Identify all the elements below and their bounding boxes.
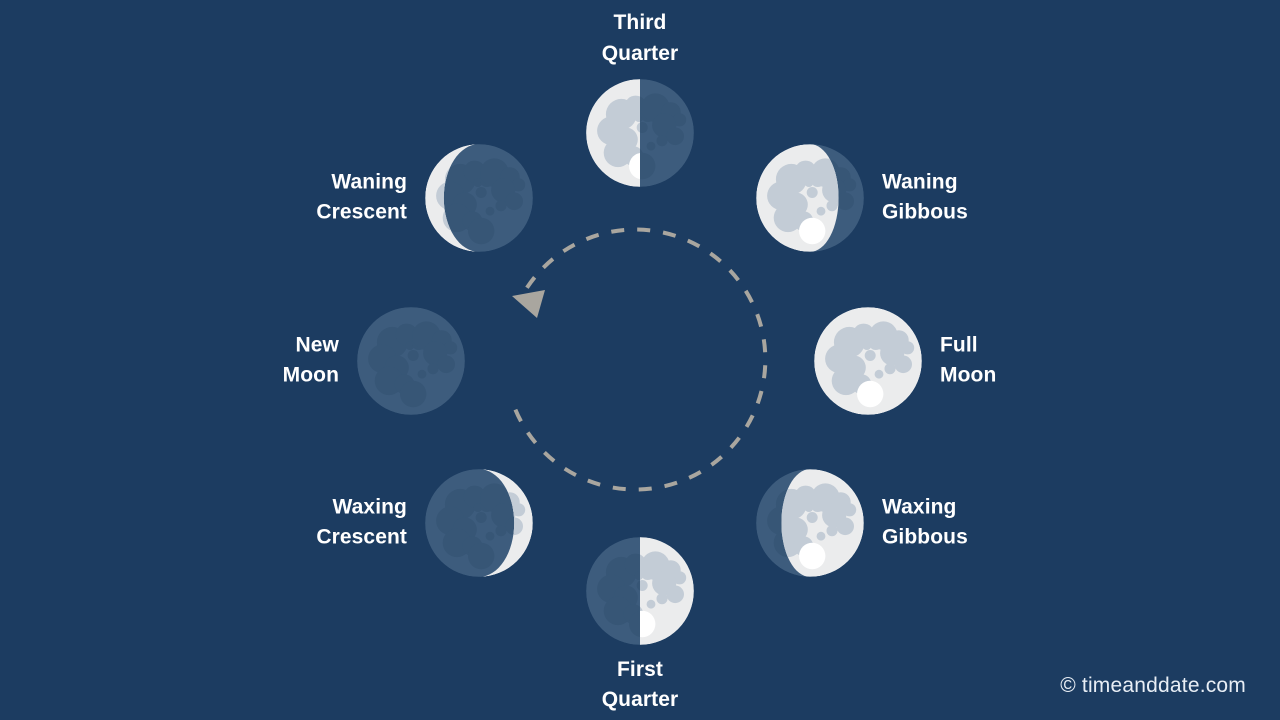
phase-label-new-moon: New Moon	[283, 331, 339, 392]
phase-label-waxing-crescent: Waxing Crescent	[316, 493, 407, 554]
moon-disc	[424, 468, 534, 578]
phase-label-full-moon: Full Moon	[940, 331, 996, 392]
moon-disc	[755, 468, 865, 578]
moon-disc	[585, 536, 695, 646]
moon-disc	[356, 306, 466, 416]
moon-disc	[755, 143, 865, 253]
moon-disc	[813, 306, 923, 416]
phase-label-waxing-gibbous: Waxing Gibbous	[882, 493, 968, 554]
phase-label-waning-crescent: Waning Crescent	[316, 168, 407, 229]
footer-credit: © timeanddate.com	[1060, 674, 1246, 698]
phase-label-third-quarter: Third Quarter	[602, 8, 679, 69]
moon-disc	[424, 143, 534, 253]
moon-disc	[585, 78, 695, 188]
phase-label-first-quarter: First Quarter	[602, 655, 679, 716]
phase-label-waning-gibbous: Waning Gibbous	[882, 168, 968, 229]
moon-phases-diagram: Third QuarterWaning GibbousFull MoonWaxi…	[0, 0, 1280, 720]
